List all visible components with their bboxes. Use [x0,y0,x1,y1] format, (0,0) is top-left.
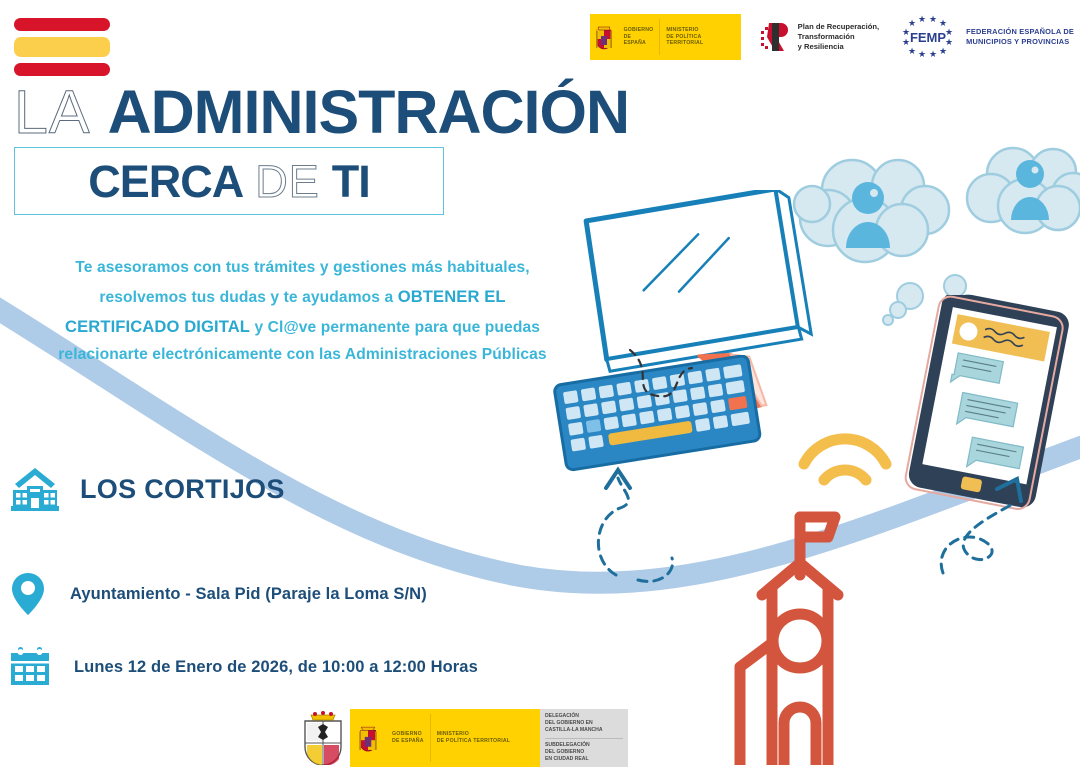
description-emphasis-2: CERTIFICADO DIGITAL [65,317,250,336]
page-title: LA ADMINISTRACIÓN [14,82,629,143]
prtr-mark-icon [759,19,793,55]
subtitle-word-ti: TI [332,159,370,204]
gobierno-text: GOBIERNO DE ESPAÑA [386,709,430,767]
venue-row: Ayuntamiento - Sala Pid (Paraje la Loma … [8,570,427,618]
date-row: Lunes 12 de Enero de 2026, de 10:00 a 12… [8,645,478,689]
townhall-building-icon [680,465,940,765]
svg-text:★: ★ [918,49,926,59]
subdelegacion-block: SUBDELEGACIÓN DEL GOBIERNO EN CIUDAD REA… [545,742,623,764]
svg-text:★: ★ [902,37,910,47]
svg-text:★: ★ [929,15,937,24]
gobierno-ministerio-logo: GOBIERNO DE ESPAÑA MINISTERIO DE POLÍTIC… [350,709,540,767]
femp-stars-icon: FEMP ★★ ★★ ★★ ★★ ★★ ★★ [897,15,959,59]
plan-recuperacion-logo: Plan de Recuperación, Transformación y R… [759,19,879,55]
femp-logo: FEMP ★★ ★★ ★★ ★★ ★★ ★★ FEDERACIÓN ESPAÑO… [897,15,1074,59]
femp-text: FEDERACIÓN ESPAÑOLA DE MUNICIPIOS Y PROV… [966,27,1074,47]
poster-canvas: LA ADMINISTRACIÓN CERCA DE TI Te asesora… [0,0,1080,779]
delegacion-block: DELEGACIÓN DEL GOBIERNO EN CASTILLA-LA M… [545,713,623,739]
top-logo-strip: GOBIERNO DE ESPAÑA MINISTERIO DE POLÍTIC… [590,14,1074,60]
svg-text:★: ★ [929,49,937,59]
prtr-text: Plan de Recuperación, Transformación y R… [798,22,879,53]
svg-text:★: ★ [945,27,953,37]
svg-text:★: ★ [918,15,926,24]
dashed-arrow-icon [925,465,1055,595]
svg-text:★: ★ [908,46,916,56]
description-paragraph: Te asesoramos con tus trámites y gestion… [20,254,585,369]
spain-coat-of-arms-icon [350,709,386,767]
femp-acronym: FEMP [910,30,946,45]
title-word-la: LA [14,78,91,146]
venue-text: Ayuntamiento - Sala Pid (Paraje la Loma … [70,585,427,604]
description-line-4: relacionarte electrónicamente con las Ad… [20,341,585,369]
town-row: LOS CORTIJOS [8,462,285,516]
description-line-2-text: resolvemos tus dudas y te ayudamos a [99,289,397,306]
date-text: Lunes 12 de Enero de 2026, de 10:00 a 12… [74,658,478,677]
townhall-small-icon [8,462,62,516]
subtitle-word-de: DE [255,159,320,204]
calendar-icon [8,645,52,689]
delegacion-gobierno-text: DELEGACIÓN DEL GOBIERNO EN CASTILLA-LA M… [540,709,628,767]
dashed-arrow-icon [580,460,700,590]
dashed-connector-icon [620,340,740,430]
cloud-avatar-icon [790,148,980,288]
description-line-1: Te asesoramos con tus trámites y gestion… [20,254,585,282]
description-line-3-text: y Cl@ve permanente para que puedas [250,319,540,336]
spain-flag-bars [14,18,110,82]
title-word-administracion: ADMINISTRACIÓN [108,78,629,146]
bottom-logo-strip: GOBIERNO DE ESPAÑA MINISTERIO DE POLÍTIC… [296,709,628,767]
ministerio-text: MINISTERIO DE POLÍTICA TERRITORIAL [431,709,516,767]
subtitle-word-cerca: CERCA [88,159,243,204]
town-name: LOS CORTIJOS [80,474,285,505]
description-line-2: resolvemos tus dudas y te ayudamos a OBT… [20,282,585,312]
description-emphasis-1: OBTENER EL [398,287,506,306]
cloud-avatar-icon [955,140,1080,260]
spain-coat-of-arms-icon [590,14,618,60]
gobierno-de-espana-logo: GOBIERNO DE ESPAÑA MINISTERIO DE POLÍTIC… [590,14,741,60]
subtitle: CERCA DE TI [14,152,444,210]
gobierno-text: GOBIERNO DE ESPAÑA [618,14,660,60]
ministerio-text: MINISTERIO DE POLÍTICA TERRITORIAL [660,14,740,60]
ciudad-real-coat-of-arms-icon [296,709,350,767]
svg-text:★: ★ [939,46,947,56]
map-pin-icon [8,570,48,618]
svg-text:★: ★ [902,27,910,37]
description-line-3: CERTIFICADO DIGITAL y Cl@ve permanente p… [20,312,585,342]
